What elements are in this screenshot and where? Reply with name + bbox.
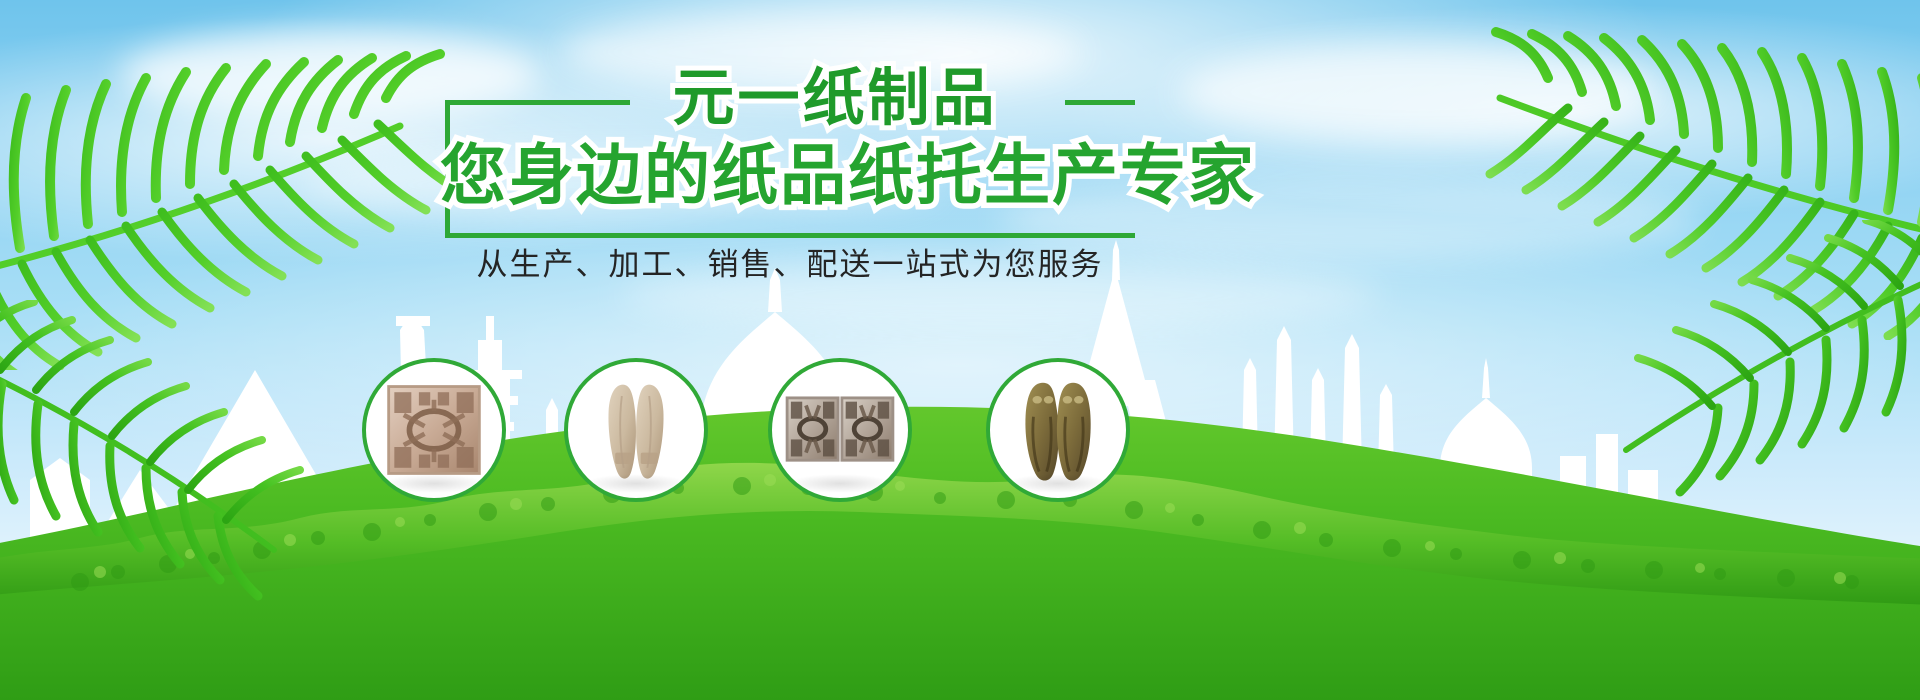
product-showcase <box>0 0 1920 700</box>
product-circle-paper-pulp-shoe-inserts[interactable] <box>564 358 708 502</box>
product-circle-paper-pulp-tray-pair[interactable] <box>768 358 912 502</box>
paper-pulp-tray-square-image <box>366 362 502 498</box>
promo-banner: 元一纸制品 您身边的纸品纸托生产专家 从生产、加工、销售、配送一站式为您服务 <box>0 0 1920 700</box>
product-circle-paper-pulp-tray-square[interactable] <box>362 358 506 502</box>
paper-pulp-shoe-forms-dark-image <box>990 362 1126 498</box>
paper-pulp-shoe-inserts-image <box>568 362 704 498</box>
product-circle-paper-pulp-shoe-forms-dark[interactable] <box>986 358 1130 502</box>
paper-pulp-tray-pair-image <box>772 362 908 498</box>
